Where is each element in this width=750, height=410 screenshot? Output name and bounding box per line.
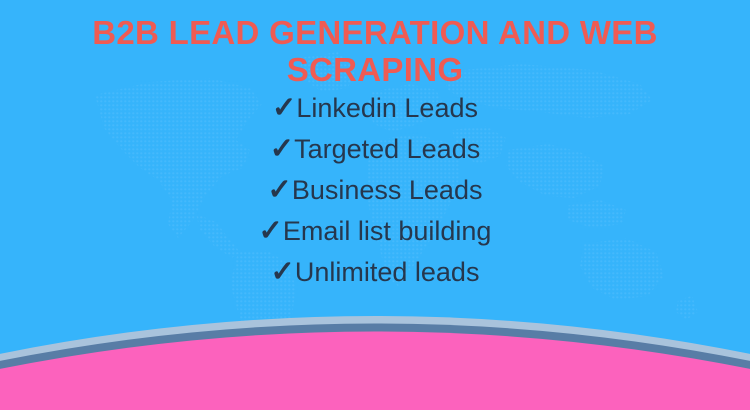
list-item: ✓Business Leads (0, 170, 750, 211)
list-item-label: Targeted Leads (294, 134, 480, 164)
check-icon: ✓ (270, 133, 293, 165)
feature-list: ✓Linkedin Leads ✓Targeted Leads ✓Busines… (0, 88, 750, 293)
list-item-label: Email list building (283, 216, 492, 246)
check-icon: ✓ (259, 215, 282, 247)
check-icon: ✓ (268, 174, 291, 206)
list-item-label: Unlimited leads (295, 257, 480, 287)
list-item: ✓Linkedin Leads (0, 88, 750, 129)
promo-banner: B2B LEAD GENERATION AND WEB SCRAPING ✓Li… (0, 0, 750, 410)
page-title: B2B LEAD GENERATION AND WEB SCRAPING (0, 14, 750, 88)
list-item: ✓Targeted Leads (0, 129, 750, 170)
list-item: ✓Unlimited leads (0, 252, 750, 293)
list-item: ✓Email list building (0, 211, 750, 252)
list-item-label: Linkedin Leads (296, 93, 478, 123)
bottom-curved-band (0, 290, 750, 410)
list-item-label: Business Leads (292, 175, 483, 205)
check-icon: ✓ (271, 256, 294, 288)
check-icon: ✓ (272, 92, 295, 124)
